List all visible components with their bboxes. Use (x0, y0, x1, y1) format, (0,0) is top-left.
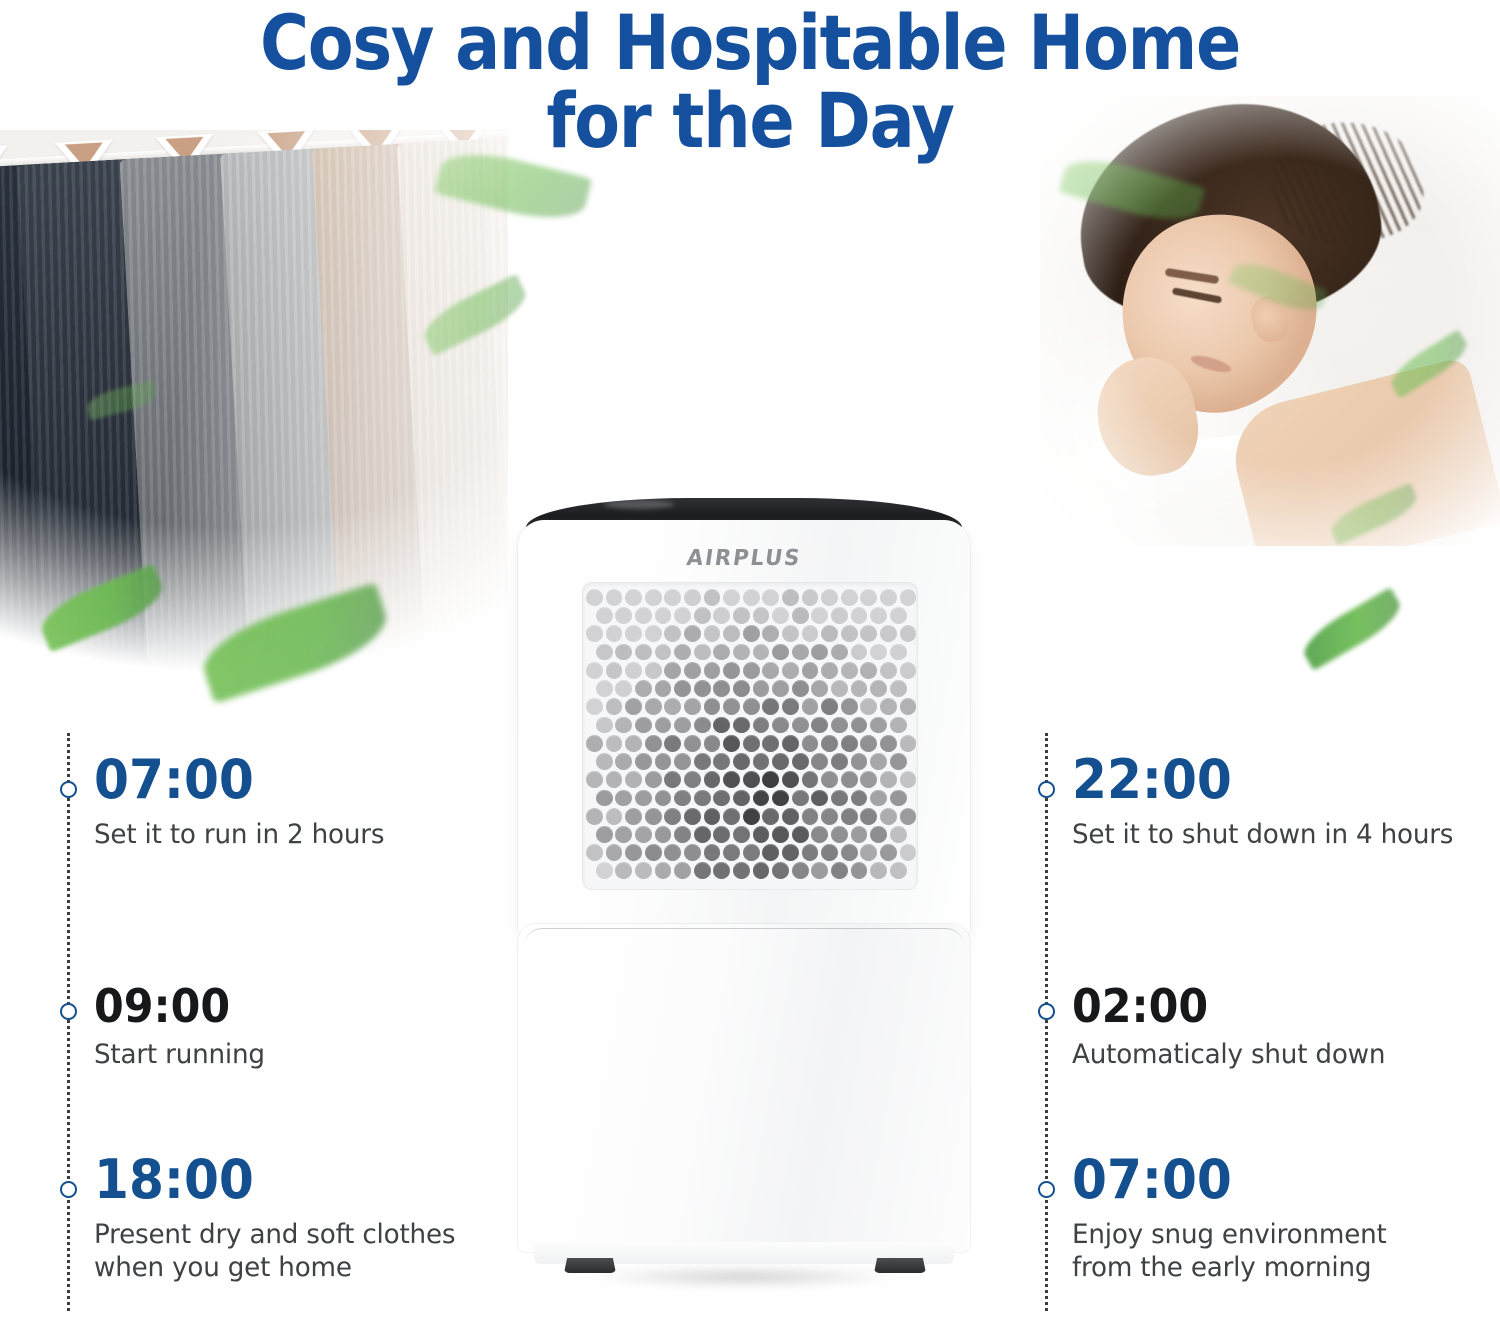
grille-hole (645, 625, 662, 642)
grille-hole (733, 790, 750, 807)
grille-hole (802, 662, 819, 679)
timeline-time: 02:00 (1072, 983, 1208, 1029)
grille-hole (704, 844, 721, 861)
grille-hole (664, 808, 681, 825)
grille-hole (762, 771, 779, 788)
timeline-time: 07:00 (94, 753, 254, 807)
grille-hole (655, 753, 672, 770)
grille-hole (743, 808, 760, 825)
grille-hole (645, 662, 662, 679)
grille-hole (753, 790, 770, 807)
grille-hole (713, 644, 730, 661)
grille-hole (762, 589, 779, 606)
grille-hole (802, 771, 819, 788)
grille-hole (792, 826, 809, 843)
grille-hole (586, 735, 603, 752)
grille-hole (723, 735, 740, 752)
grille-hole (694, 717, 711, 734)
grille-hole (772, 790, 789, 807)
grille-hole (851, 607, 868, 624)
grille-hole (880, 698, 897, 715)
product-foot-right (874, 1258, 926, 1273)
grille-hole (674, 717, 691, 734)
grille-hole (870, 680, 887, 697)
grille-hole (635, 717, 652, 734)
grille-hole (684, 662, 701, 679)
timeline-time: 22:00 (1072, 753, 1232, 807)
grille-hole (733, 753, 750, 770)
grille-hole (635, 680, 652, 697)
grille-hole (802, 844, 819, 861)
timeline-time: 07:00 (1072, 1153, 1232, 1207)
grille-hole (880, 625, 897, 642)
grille-hole (694, 862, 711, 879)
grille-hole (772, 644, 789, 661)
grille-hole (625, 625, 642, 642)
grille-hole (900, 844, 917, 861)
grille-hole (792, 644, 809, 661)
grille-hole (900, 662, 917, 679)
grille-hole (645, 808, 662, 825)
grille-hole (743, 771, 760, 788)
timeline-dotted-line-left (67, 733, 70, 1311)
grille-hole (655, 826, 672, 843)
grille-hole (615, 826, 632, 843)
grille-hole (596, 607, 613, 624)
grille-hole (811, 753, 828, 770)
grille-hole (762, 844, 779, 861)
grille-hole (684, 589, 701, 606)
grille-hole (860, 808, 877, 825)
grille-hole (713, 790, 730, 807)
grille-hole (860, 662, 877, 679)
grille-hole (606, 662, 623, 679)
grille-hole (635, 644, 652, 661)
grille-hole (900, 589, 917, 606)
grille-hole (841, 662, 858, 679)
grille-hole (753, 826, 770, 843)
grille-hole (625, 589, 642, 606)
grille-hole (880, 771, 897, 788)
grille-hole (713, 680, 730, 697)
grille-hole (890, 753, 907, 770)
timeline-marker-icon (60, 1003, 77, 1020)
grille-hole (851, 680, 868, 697)
grille-hole (615, 753, 632, 770)
grille-hole (870, 717, 887, 734)
grille-hole (655, 644, 672, 661)
grille-hole (811, 644, 828, 661)
grille-hole (802, 625, 819, 642)
grille-hole (860, 698, 877, 715)
grille-hole (900, 698, 917, 715)
grille-hole (704, 589, 721, 606)
grille-hole (615, 862, 632, 879)
grille-hole (694, 753, 711, 770)
grille-hole (831, 680, 848, 697)
grille-hole (684, 698, 701, 715)
grille-hole (753, 717, 770, 734)
grille-hole (762, 625, 779, 642)
grille-hole (596, 862, 613, 879)
grille-hole (753, 680, 770, 697)
grille-hole (664, 625, 681, 642)
grille-hole (645, 844, 662, 861)
dehumidifier-product: AIRPLUS (508, 498, 980, 1288)
timeline-description: Enjoy snug environment from the early mo… (1072, 1219, 1387, 1285)
grille-hole (645, 698, 662, 715)
grille-hole (821, 844, 838, 861)
grille-hole (821, 625, 838, 642)
grille-hole (606, 808, 623, 825)
grille-hole (733, 644, 750, 661)
grille-hole (880, 808, 897, 825)
grille-hole (645, 735, 662, 752)
grille-hole (762, 808, 779, 825)
grille-hole (704, 735, 721, 752)
grille-hole (753, 644, 770, 661)
grille-hole (713, 607, 730, 624)
grille-hole (664, 589, 681, 606)
timeline-description: Set it to run in 2 hours (94, 819, 384, 852)
grille-hole (586, 771, 603, 788)
grille-hole (772, 680, 789, 697)
timeline-marker-icon (60, 1181, 77, 1198)
grille-hole (704, 625, 721, 642)
grille-hole (772, 607, 789, 624)
grille-hole (625, 808, 642, 825)
grille-hole (811, 717, 828, 734)
grille-hole (811, 826, 828, 843)
grille-hole (900, 625, 917, 642)
grille-hole (860, 589, 877, 606)
grille-hole (831, 644, 848, 661)
grille-hole (782, 844, 799, 861)
grille-hole (851, 753, 868, 770)
grille-hole (772, 753, 789, 770)
grille-hole (674, 826, 691, 843)
grille-hole (860, 625, 877, 642)
grille-hole (586, 698, 603, 715)
grille-hole (674, 607, 691, 624)
leaf-icon (1297, 587, 1408, 670)
grille-hole (831, 826, 848, 843)
grille-hole (782, 589, 799, 606)
grille-hole (782, 698, 799, 715)
grille-hole (811, 680, 828, 697)
grille-hole (606, 735, 623, 752)
grille-hole (782, 735, 799, 752)
grille-hole (655, 607, 672, 624)
grille-hole (900, 808, 917, 825)
grille-hole (792, 717, 809, 734)
grille-hole (615, 644, 632, 661)
timeline-right: 22:00Set it to shut down in 4 hours02:00… (1030, 733, 1500, 1323)
grille-hole (860, 735, 877, 752)
grille-hole (596, 753, 613, 770)
grille-hole (606, 625, 623, 642)
grille-hole (664, 771, 681, 788)
grille-hole (802, 589, 819, 606)
grille-hole (831, 753, 848, 770)
grille-hole (743, 698, 760, 715)
air-grille (582, 582, 918, 890)
grille-hole (596, 826, 613, 843)
grille-hole (606, 698, 623, 715)
grille-hole (811, 862, 828, 879)
grille-hole (851, 790, 868, 807)
grille-hole (723, 808, 740, 825)
grille-hole (704, 698, 721, 715)
grille-hole (655, 717, 672, 734)
grille-hole (743, 844, 760, 861)
grille-hole (625, 698, 642, 715)
grille-hole (625, 662, 642, 679)
grille-hole (870, 644, 887, 661)
grille-hole (890, 862, 907, 879)
grille-hole (851, 862, 868, 879)
grille-hole (792, 753, 809, 770)
grille-hole (664, 698, 681, 715)
grille-hole (851, 826, 868, 843)
grille-hole (704, 662, 721, 679)
grille-hole (645, 589, 662, 606)
grille-hole (870, 862, 887, 879)
grille-hole (870, 790, 887, 807)
grille-hole (713, 753, 730, 770)
grille-hole (821, 589, 838, 606)
grille-hole (841, 589, 858, 606)
product-upper-body: AIRPLUS (518, 520, 970, 938)
grille-hole (821, 808, 838, 825)
grille-hole (586, 589, 603, 606)
grille-hole (841, 771, 858, 788)
grille-hole (743, 625, 760, 642)
grille-hole (684, 625, 701, 642)
grille-hole (831, 790, 848, 807)
timeline-marker-icon (60, 781, 77, 798)
grille-hole (870, 826, 887, 843)
infographic-canvas: Cosy and Hospitable Home for the Day AIR… (0, 0, 1500, 1330)
grille-hole (723, 698, 740, 715)
grille-hole (723, 589, 740, 606)
grille-hole (811, 607, 828, 624)
grille-hole (596, 717, 613, 734)
grille-hole (664, 735, 681, 752)
grille-hole (655, 862, 672, 879)
grille-hole (792, 680, 809, 697)
grille-hole (635, 607, 652, 624)
grille-hole (674, 753, 691, 770)
grille-hole (625, 771, 642, 788)
grille-hole (694, 644, 711, 661)
timeline-time: 18:00 (94, 1153, 254, 1207)
grille-hole (723, 625, 740, 642)
grille-hole (704, 771, 721, 788)
brand-logo: AIRPLUS (525, 546, 962, 571)
timeline-marker-icon (1038, 1003, 1055, 1020)
grille-hole (890, 826, 907, 843)
grille-hole (635, 826, 652, 843)
grille-hole (645, 771, 662, 788)
grille-hole (606, 844, 623, 861)
grille-hole (831, 717, 848, 734)
timeline-description: Set it to shut down in 4 hours (1072, 819, 1453, 852)
grille-hole (586, 662, 603, 679)
grille-hole (615, 680, 632, 697)
grille-hole (723, 662, 740, 679)
grille-hole (733, 826, 750, 843)
grille-hole (802, 808, 819, 825)
grille-hole (606, 771, 623, 788)
grille-hole (713, 717, 730, 734)
grille-hole (664, 844, 681, 861)
grille-hole (831, 607, 848, 624)
grille-hole (811, 790, 828, 807)
grille-hole (782, 662, 799, 679)
grille-hole (635, 753, 652, 770)
grille-hole (655, 680, 672, 697)
grille-hole (684, 735, 701, 752)
grille-hole (723, 771, 740, 788)
grille-hole (586, 844, 603, 861)
grille-hole (802, 735, 819, 752)
grille-hole (841, 844, 858, 861)
grille-hole (860, 771, 877, 788)
grille-hole (694, 607, 711, 624)
grille-hole (772, 862, 789, 879)
grille-hole (743, 589, 760, 606)
grille-hole (880, 589, 897, 606)
grille-hole (694, 826, 711, 843)
grille-hole (615, 607, 632, 624)
grille-hole (684, 771, 701, 788)
grille-hole (606, 589, 623, 606)
grille-hole (851, 717, 868, 734)
grille-hole (821, 771, 838, 788)
timeline-description: Automaticaly shut down (1072, 1039, 1385, 1072)
timeline-marker-icon (1038, 781, 1055, 798)
grille-hole (762, 662, 779, 679)
grille-hole (753, 607, 770, 624)
grille-hole (792, 862, 809, 879)
grille-hole (743, 662, 760, 679)
grille-hole (733, 717, 750, 734)
grille-hole (694, 790, 711, 807)
timeline-left: 07:00Set it to run in 2 hours09:00Start … (52, 733, 522, 1323)
grille-hole (880, 844, 897, 861)
grille-hole (733, 680, 750, 697)
grille-hole (704, 808, 721, 825)
grille-hole (625, 844, 642, 861)
grille-hole (674, 862, 691, 879)
grille-hole (870, 753, 887, 770)
grille-hole (772, 717, 789, 734)
grille-hole (762, 735, 779, 752)
grille-hole (684, 808, 701, 825)
grille-hole (674, 790, 691, 807)
grille-hole (743, 735, 760, 752)
grille-hole (762, 698, 779, 715)
grille-hole (870, 607, 887, 624)
grille-hole (625, 735, 642, 752)
grille-hole (821, 698, 838, 715)
grille-hole (841, 698, 858, 715)
grille-hole (792, 790, 809, 807)
grille-hole (821, 735, 838, 752)
grille-hole (596, 644, 613, 661)
grille-hole (664, 662, 681, 679)
grille-hole (596, 680, 613, 697)
grille-hole (890, 607, 907, 624)
grille-hole (802, 698, 819, 715)
timeline-dotted-line-right (1045, 733, 1048, 1311)
grille-hole (831, 862, 848, 879)
grille-hole (890, 717, 907, 734)
grille-hole (753, 753, 770, 770)
grille-hole (723, 844, 740, 861)
grille-hole (782, 808, 799, 825)
grille-hole (900, 735, 917, 752)
grille-hole (635, 790, 652, 807)
grille-hole (713, 862, 730, 879)
grille-hole (880, 662, 897, 679)
page-title: Cosy and Hospitable Home for the Day (90, 4, 1410, 161)
grille-hole (615, 717, 632, 734)
grille-hole (733, 607, 750, 624)
grille-hole (841, 808, 858, 825)
grille-hole (586, 808, 603, 825)
timeline-time: 09:00 (94, 983, 230, 1029)
grille-hole (782, 771, 799, 788)
grille-hole (674, 680, 691, 697)
grille-hole (635, 862, 652, 879)
grille-hole (753, 862, 770, 879)
grille-hole (713, 826, 730, 843)
grille-hole (880, 735, 897, 752)
grille-hole (655, 790, 672, 807)
timeline-marker-icon (1038, 1181, 1055, 1198)
grille-hole (596, 790, 613, 807)
grille-hole (782, 625, 799, 642)
grille-hole (733, 862, 750, 879)
grille-hole (694, 680, 711, 697)
grille-hole (890, 790, 907, 807)
grille-hole (586, 625, 603, 642)
timeline-description: Start running (94, 1039, 265, 1072)
timeline-description: Present dry and soft clothes when you ge… (94, 1219, 455, 1285)
grille-hole (890, 680, 907, 697)
grille-hole (851, 644, 868, 661)
grille-hole (684, 844, 701, 861)
grille-hole (900, 771, 917, 788)
grille-hole (841, 735, 858, 752)
grille-hole (860, 844, 877, 861)
product-foot-left (564, 1258, 616, 1273)
grille-hole (772, 826, 789, 843)
grille-hole (792, 607, 809, 624)
water-tank (518, 924, 970, 1252)
grille-hole (821, 662, 838, 679)
grille-hole (674, 644, 691, 661)
grille-hole (890, 644, 907, 661)
grille-hole (615, 790, 632, 807)
grille-hole (841, 625, 858, 642)
